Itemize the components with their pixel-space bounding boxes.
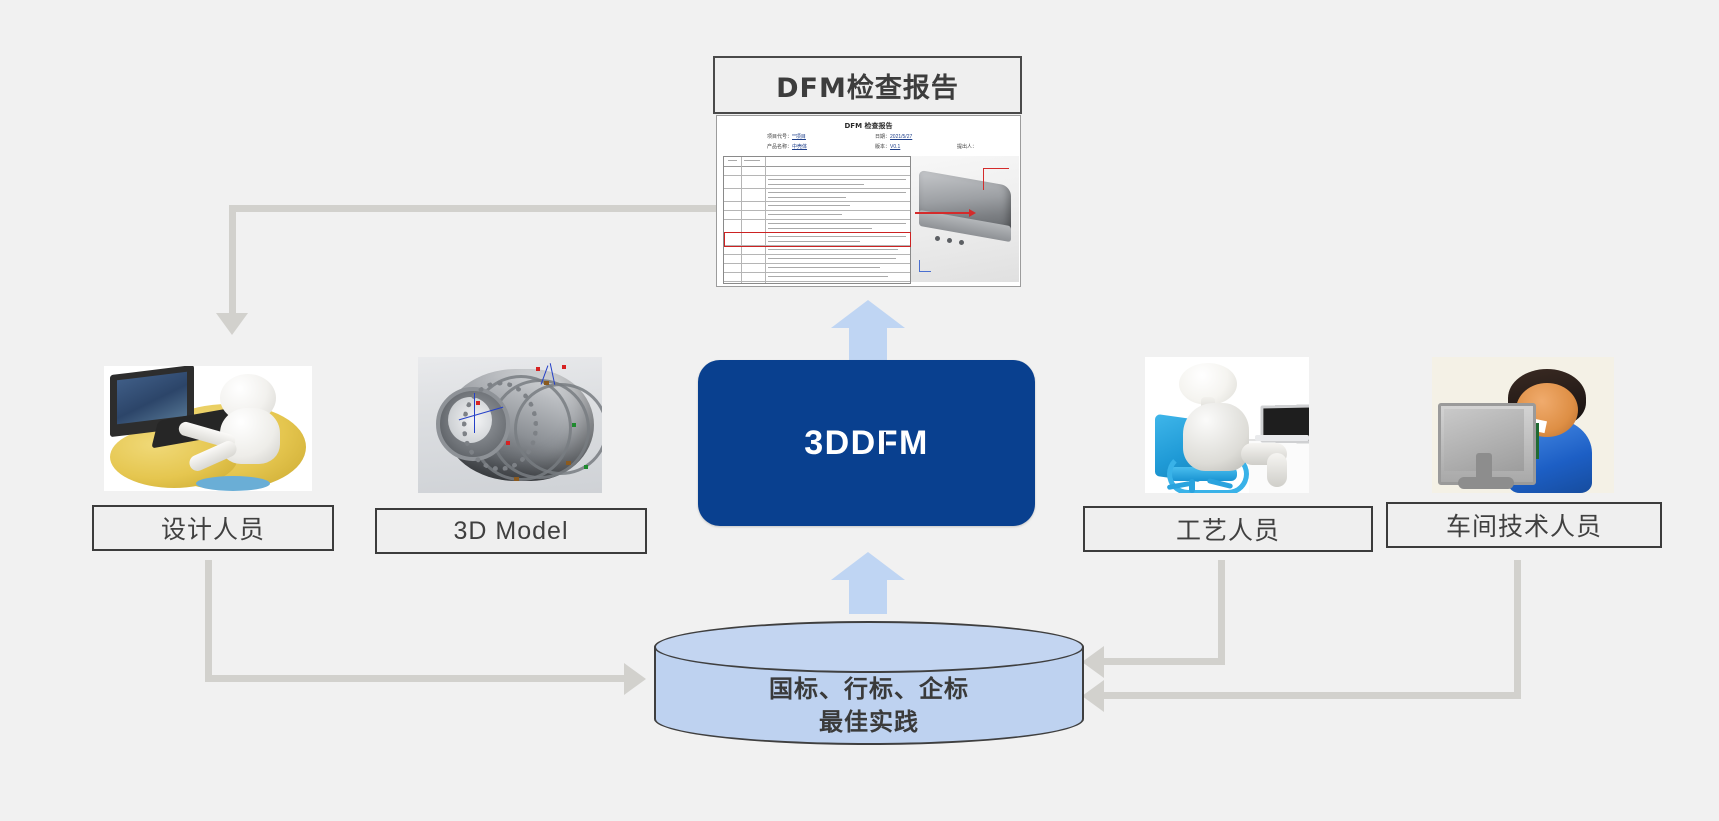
actor-label-3d-model[interactable]: 3D Model <box>375 508 647 554</box>
table-row <box>724 175 910 189</box>
core-3ddfm-label: 3DDFM <box>804 424 929 463</box>
actor-label-workshop[interactable]: 车间技术人员 <box>1386 502 1662 548</box>
report-callout-arrow <box>915 212 971 214</box>
actor-label-designer-text: 设计人员 <box>161 510 265 546</box>
process-to-kb-horizontal-segment <box>1103 658 1225 665</box>
workshop-to-kb-vertical-segment <box>1514 560 1521 699</box>
dfm-report-thumbnail[interactable]: DFM 检查报告 项目代号：**项目 日期：2021/5/27 产品名称：中壳体… <box>716 115 1021 287</box>
core-to-report-arrow <box>831 300 905 360</box>
report-highlighted-row <box>724 232 911 247</box>
process-to-kb-arrowhead <box>1082 646 1104 678</box>
workshop-technician-avatar-image <box>1432 357 1614 493</box>
report-meta-product: 产品名称：中壳体 <box>767 143 807 150</box>
report-meta-project-value: **项目 <box>792 134 806 140</box>
cad-casing-model-image <box>418 357 602 493</box>
report-callout-arrowhead <box>969 209 976 217</box>
workshop-to-kb-arrowhead <box>1082 680 1104 712</box>
report-to-designer-arrowhead <box>216 313 248 335</box>
knowledge-base-cylinder[interactable]: 国标、行标、企标 最佳实践 <box>654 621 1084 745</box>
report-meta-date-label: 日期： <box>875 134 890 140</box>
designer-to-kb-arrowhead <box>624 663 646 695</box>
report-callout-line-2 <box>983 168 1009 169</box>
kb-to-core-arrowhead <box>831 552 905 580</box>
report-meta-author-label: 提出人： <box>957 144 977 150</box>
knowledge-base-caption: 国标、行标、企标 最佳实践 <box>654 673 1084 739</box>
dfm-report-title-box[interactable]: DFM检查报告 <box>713 56 1022 114</box>
actor-label-3d-model-text: 3D Model <box>454 517 569 546</box>
diagram-canvas: DFM检查报告 DFM 检查报告 项目代号：**项目 日期：2021/5/27 … <box>0 0 1719 821</box>
designer-at-workstation-illustration <box>104 366 312 491</box>
report-meta-project-label: 项目代号： <box>767 134 792 140</box>
actor-label-designer[interactable]: 设计人员 <box>92 505 334 551</box>
workshop-to-kb-horizontal-segment <box>1103 692 1521 699</box>
report-meta-product-value: 中壳体 <box>792 144 807 150</box>
report-meta-date-value: 2021/5/27 <box>890 134 912 140</box>
process-engineer-at-desk-illustration <box>1145 357 1309 493</box>
core-to-report-arrowhead <box>831 300 905 328</box>
dfm-report-title-label: DFM检查报告 <box>776 66 959 105</box>
designer-to-kb-horizontal-segment <box>205 675 629 682</box>
cylinder-top-ellipse <box>654 621 1084 673</box>
report-meta-version-label: 版本： <box>875 144 890 150</box>
knowledge-base-line1: 国标、行标、企标 <box>654 673 1084 706</box>
designer-to-kb-vertical-segment <box>205 560 212 682</box>
kb-to-core-arrow-shaft <box>849 578 887 614</box>
table-row <box>724 272 910 282</box>
report-findings-table <box>723 156 911 284</box>
core-to-report-arrow-shaft <box>849 326 887 360</box>
report-meta-version: 版本：V0.1 <box>875 143 900 150</box>
table-row <box>724 219 910 233</box>
report-callout-line-1 <box>983 168 984 190</box>
report-3d-viewport <box>911 156 1019 282</box>
knowledge-base-line2: 最佳实践 <box>654 706 1084 739</box>
report-meta-version-value: V0.1 <box>890 144 900 150</box>
report-doc-title: DFM 检查报告 <box>717 121 1020 131</box>
report-meta-date: 日期：2021/5/27 <box>875 133 912 140</box>
report-meta-project: 项目代号：**项目 <box>767 133 806 140</box>
table-row <box>724 188 910 202</box>
knowledge-base-to-core-arrow <box>831 552 905 614</box>
actor-label-process[interactable]: 工艺人员 <box>1083 506 1373 552</box>
process-to-kb-vertical-segment <box>1218 560 1225 665</box>
actor-label-process-text: 工艺人员 <box>1176 511 1280 547</box>
report-meta-product-label: 产品名称： <box>767 144 792 150</box>
report-page: DFM 检查报告 项目代号：**项目 日期：2021/5/27 产品名称：中壳体… <box>717 116 1020 286</box>
report-meta-author: 提出人： <box>957 143 977 150</box>
actor-label-workshop-text: 车间技术人员 <box>1446 507 1602 543</box>
core-3ddfm-box[interactable]: 3DDFM <box>698 360 1035 526</box>
text-cursor-caret <box>884 432 886 450</box>
report-to-designer-horizontal-segment <box>229 205 719 212</box>
report-to-designer-vertical-segment <box>229 205 236 316</box>
